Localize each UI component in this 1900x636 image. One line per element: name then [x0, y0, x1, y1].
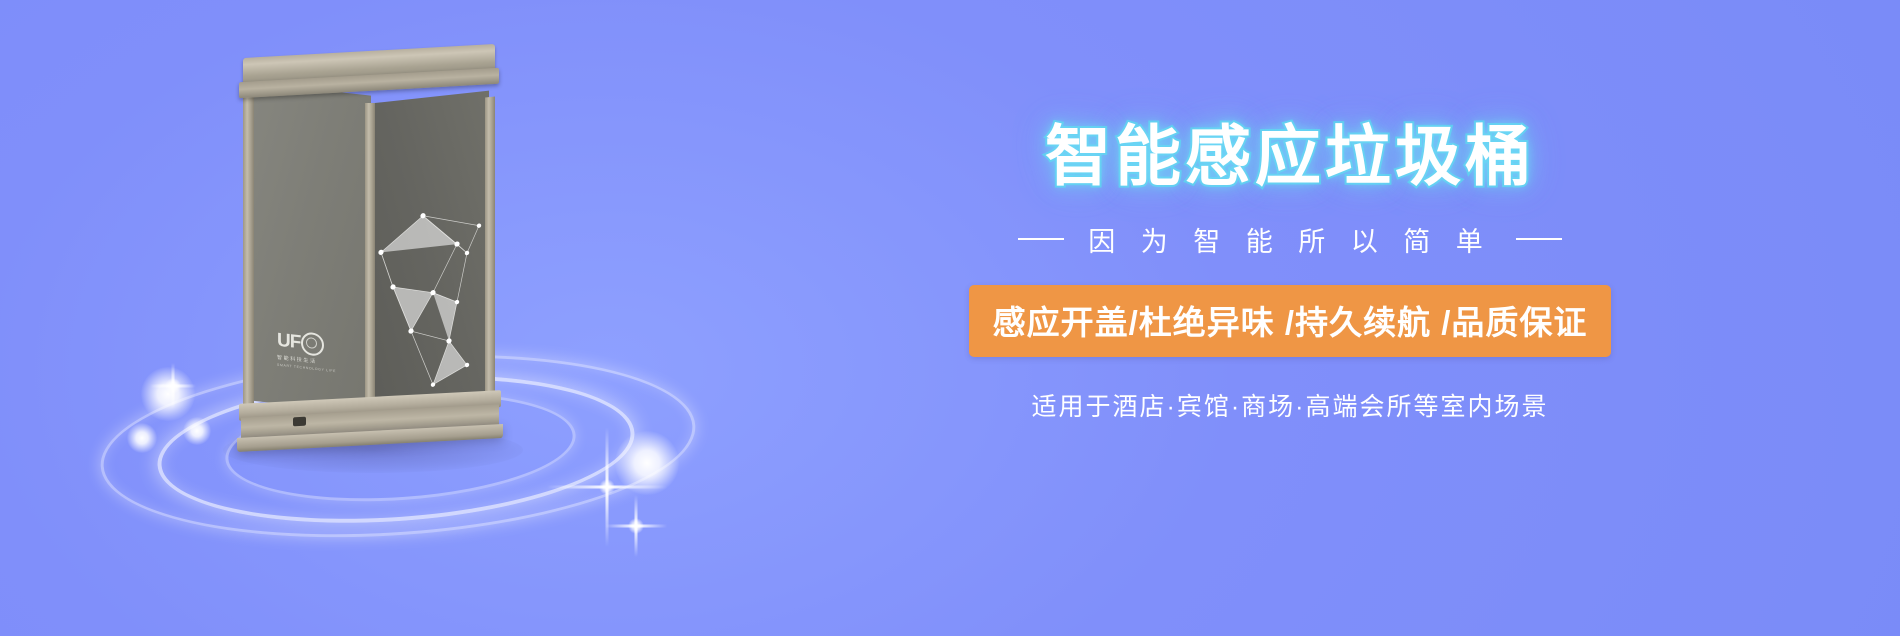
- rule-right-icon: [1516, 238, 1562, 240]
- rule-left-icon: [1018, 238, 1064, 240]
- feature-bar-wrap: 感应开盖/杜绝异味 /持久续航 /品质保证: [880, 259, 1700, 357]
- glow-dot-icon: [141, 367, 195, 421]
- scene-line: 适用于酒店·宾馆·商场·高端会所等室内场景: [880, 387, 1700, 423]
- bin-base-slot: [293, 417, 306, 427]
- bin-edge-post: [243, 90, 254, 409]
- polygon-network-graphic: [371, 91, 489, 416]
- glow-dot-icon: [183, 417, 211, 445]
- sparkle-icon: [547, 427, 667, 547]
- product-stage: UF 智能科技生活 SMART TECHNOLOGY LIFE: [95, 45, 715, 555]
- glow-dot-icon: [127, 423, 157, 453]
- circle-emblem-icon: [301, 331, 324, 356]
- headline: 智能感应垃圾桶: [880, 120, 1700, 194]
- promo-banner: UF 智能科技生活 SMART TECHNOLOGY LIFE 智能感应垃圾桶 …: [0, 0, 1900, 636]
- feature-bar: 感应开盖/杜绝异味 /持久续航 /品质保证: [969, 285, 1612, 357]
- subline-text: 因 为 智 能 所 以 简 单: [1084, 220, 1496, 259]
- bin-edge-post: [485, 96, 495, 403]
- sparkle-icon: [150, 363, 196, 409]
- bin-side-glass-panel: [371, 91, 489, 416]
- trash-bin-product-image: UF 智能科技生活 SMART TECHNOLOGY LIFE: [235, 45, 505, 445]
- sparkle-icon: [605, 495, 667, 557]
- subline: 因 为 智 能 所 以 简 单: [880, 220, 1700, 259]
- bin-edge-post: [365, 103, 375, 411]
- glow-dot-icon: [615, 431, 679, 495]
- copy-block: 智能感应垃圾桶 因 为 智 能 所 以 简 单 感应开盖/杜绝异味 /持久续航 …: [880, 120, 1700, 423]
- brand-wordmark: UF: [277, 331, 300, 353]
